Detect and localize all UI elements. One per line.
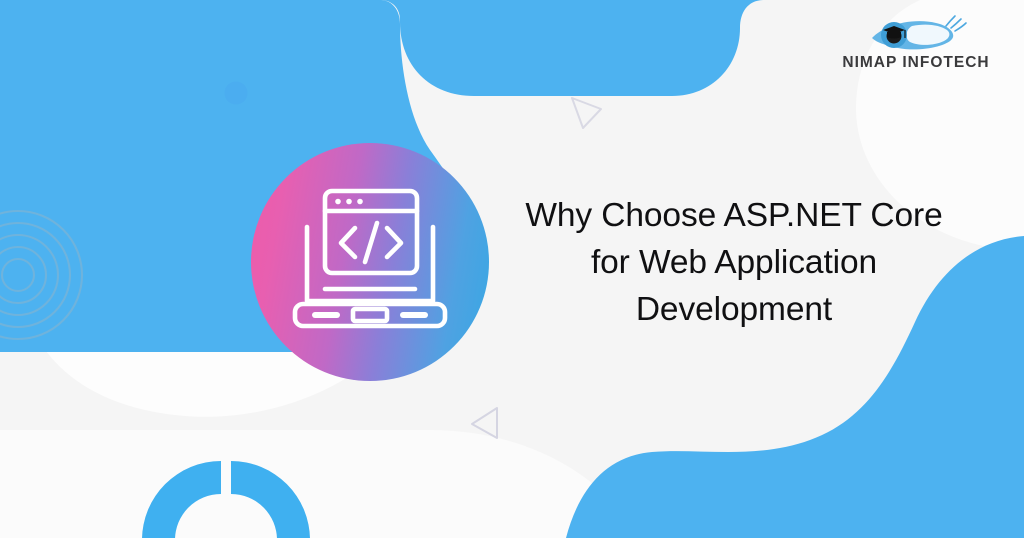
page-title-line-1: Why Choose ASP.NET Core (494, 192, 974, 239)
browser-dots (335, 199, 363, 205)
page-title-line-3: Development (494, 286, 974, 333)
laptop-trackpad (353, 309, 387, 321)
blue-dot (225, 82, 248, 105)
page-title: Why Choose ASP.NET Core for Web Applicat… (494, 192, 974, 333)
logo: NIMAP INFOTECH (826, 14, 1006, 80)
logo-text: NIMAP INFOTECH (842, 55, 989, 71)
page-title-line-2: for Web Application (494, 239, 974, 286)
banner-canvas: NIMAP INFOTECH (0, 0, 1024, 538)
gradient-circle (251, 143, 489, 381)
eye-with-graduation-cap-icon (860, 14, 972, 54)
code-brackets-symbol (341, 223, 401, 262)
laptop-code-icon (289, 183, 451, 341)
